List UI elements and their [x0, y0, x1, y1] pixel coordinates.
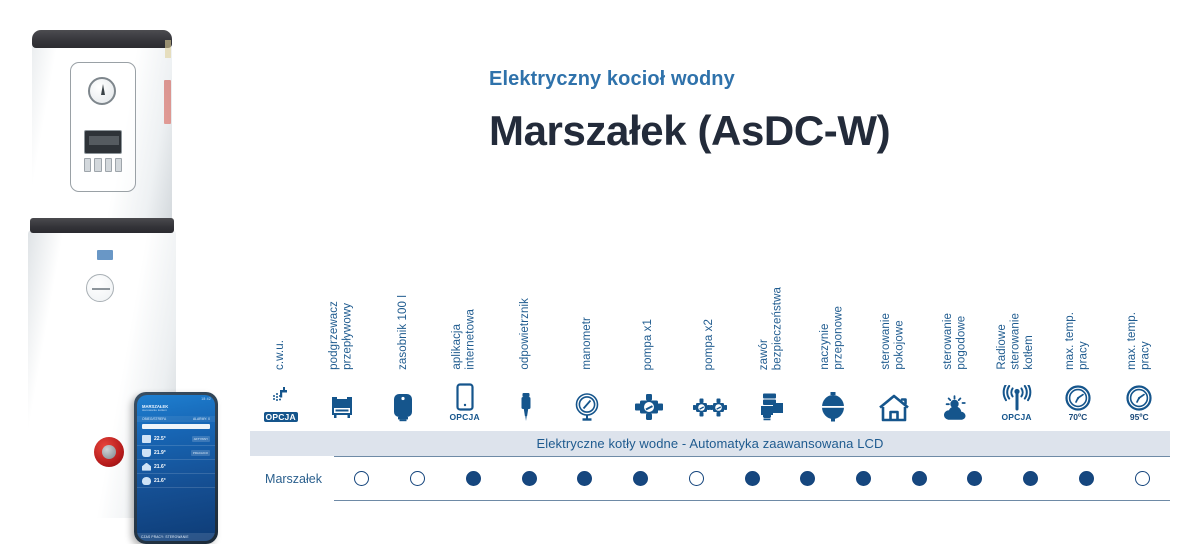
option-badge: OPCJA [264, 412, 298, 422]
feature-dot-cell [501, 471, 557, 486]
shower-icon: OPCJA [264, 370, 298, 422]
phone-progress-bar [142, 424, 210, 429]
feature-column-icon [863, 370, 924, 422]
phone-col-left: OBIEG/STREFA [142, 417, 166, 421]
phone-list-item: 21.6° [137, 460, 215, 474]
feature-column-label: max. temp. pracy [1109, 312, 1170, 370]
feature-available-dot [466, 471, 481, 486]
feature-column-label: pompa x1 [618, 319, 679, 370]
feature-column-label: Radiowe sterowanie kotłem [986, 313, 1047, 370]
feature-label-text: Radiowe sterowanie kotłem [996, 313, 1037, 370]
row-label: Marszałek [250, 472, 334, 486]
feature-column-icon [802, 370, 863, 422]
phone-app-title: MARSZAŁEK sterowanie kotłem [137, 402, 215, 416]
phone-screen: 18:42 MARSZAŁEK sterowanie kotłem OBIEG/… [137, 395, 215, 541]
phone-status-bar: 18:42 [137, 395, 215, 402]
feature-column-label: c.w.u. [250, 340, 311, 370]
feature-dot-cell [1114, 471, 1170, 486]
feature-label-text: aplikacja internetowa [451, 309, 478, 370]
phone-temp-value: 21.6° [154, 464, 166, 470]
expansion-vessel-icon [820, 370, 846, 422]
feature-available-dot [633, 471, 648, 486]
feature-column-icon: 70ºC [1047, 370, 1108, 422]
phone-list-item: 21.6° [137, 474, 215, 488]
category-banner: Elektryczne kotły wodne - Automatyka zaa… [250, 431, 1170, 456]
flow-heater-icon [329, 370, 355, 422]
radio-antenna-icon: OPCJA [1001, 370, 1031, 422]
feature-column-label: sterowanie pogodowe [925, 313, 986, 370]
phone-column-headers: OBIEG/STREFA ALARMY: 0 [137, 416, 215, 422]
phone-list-item: 22.5° AKTYWNY [137, 432, 215, 446]
phone-temp-value: 21.9° [154, 450, 166, 456]
phone-col-right: ALARMY: 0 [193, 417, 210, 421]
feature-available-dot [967, 471, 982, 486]
boiler-side-label [164, 80, 171, 124]
boiler-side-label-top [165, 40, 171, 58]
phone-list-item: 21.9° PRACA/CO [137, 446, 215, 460]
feature-available-dot [745, 471, 760, 486]
feature-label-text: max. temp. pracy [1126, 312, 1153, 370]
feature-dot-cell [1003, 471, 1059, 486]
feature-dot-cell [947, 471, 1003, 486]
feature-column-icon: OPCJA [986, 370, 1047, 422]
feature-label-text: sterowanie pokojowe [880, 313, 907, 370]
phone-app-subtitle: sterowanie kotłem [142, 409, 210, 413]
thermometer-dial-icon: 70ºC [1065, 370, 1091, 422]
category-banner-text: Elektryczne kotły wodne - Automatyka zaa… [536, 436, 883, 451]
boiler-icon [142, 449, 151, 457]
feature-available-dot [912, 471, 927, 486]
feature-column-label: zawór bezpieczeństwa [741, 287, 802, 370]
feature-column-icon [925, 370, 986, 422]
feature-column-icon: OPCJA [434, 370, 495, 422]
feature-dot-cell [445, 471, 501, 486]
feature-column-label: odpowietrznik [495, 298, 556, 370]
phone-status-badge: PRACA/CO [191, 450, 210, 456]
max-temp-value: 70ºC [1069, 412, 1088, 422]
weather-icon [940, 370, 970, 422]
feature-dot-cell [390, 471, 446, 486]
feature-dot-cell [557, 471, 613, 486]
feature-dot-cell [334, 471, 390, 486]
feature-label-text: max. temp. pracy [1064, 312, 1091, 370]
panel-keypad [84, 158, 122, 172]
feature-unavailable-dot [410, 471, 425, 486]
phone-temp-value: 21.6° [154, 478, 166, 484]
safety-valve-icon [757, 370, 785, 422]
storage-tank-icon [392, 370, 414, 422]
phone-temp-value: 22.5° [154, 436, 166, 442]
house-icon [878, 370, 910, 422]
house-icon [142, 463, 151, 471]
brand-logo-badge [97, 250, 113, 260]
feature-label-text: pompa x1 [642, 319, 656, 370]
feature-icons-row: OPCJA OPCJA [250, 370, 1170, 422]
feature-column-icon [557, 370, 618, 422]
feature-dot-cell [668, 471, 724, 486]
feature-column-icon: OPCJA [250, 370, 311, 422]
air-vent-icon [519, 370, 533, 422]
feature-label-text: podgrzewacz przepływowy [328, 301, 355, 370]
feature-available-dot [1023, 471, 1038, 486]
feature-column-icon [618, 370, 679, 422]
max-temp-value: 95ºC [1130, 412, 1149, 422]
product-photo: 18:42 MARSZAŁEK sterowanie kotłem OBIEG/… [18, 22, 233, 522]
feature-label-text: pompa x2 [703, 319, 717, 370]
feature-table: c.w.u.podgrzewacz przepływowyzasobnik 10… [250, 250, 1170, 501]
option-badge: OPCJA [1001, 412, 1031, 422]
weather-icon [142, 477, 151, 485]
table-row: Marszałek [250, 456, 1170, 501]
feature-dot-cell [780, 471, 836, 486]
feature-label-text: naczynie przeponowe [819, 306, 846, 370]
pump-double-icon [693, 370, 727, 422]
phone-mockup: 18:42 MARSZAŁEK sterowanie kotłem OBIEG/… [134, 392, 218, 544]
feature-available-dot [1079, 471, 1094, 486]
feature-column-label: zasobnik 100 l [373, 295, 434, 370]
feature-dot-cell [836, 471, 892, 486]
feature-dot-cell [724, 471, 780, 486]
option-badge: OPCJA [450, 412, 480, 422]
feature-column-label: podgrzewacz przepływowy [311, 301, 372, 370]
feature-label-text: manometr [581, 317, 595, 370]
drain-valve-icon [94, 437, 124, 467]
panel-gauge-icon [88, 77, 116, 105]
pump-single-icon [634, 370, 664, 422]
feature-dot-cell [891, 471, 947, 486]
panel-lcd-display [84, 130, 122, 154]
feature-unavailable-dot [354, 471, 369, 486]
feature-availability-dots [334, 456, 1170, 501]
feature-available-dot [577, 471, 592, 486]
feature-column-label: manometr [557, 317, 618, 370]
feature-column-label: naczynie przeponowe [802, 306, 863, 370]
feature-column-icon [679, 370, 740, 422]
feature-column-label: sterowanie pokojowe [863, 313, 924, 370]
feature-available-dot [856, 471, 871, 486]
feature-column-icon [311, 370, 372, 422]
feature-unavailable-dot [689, 471, 704, 486]
feature-label-text: odpowietrznik [519, 298, 533, 370]
feature-column-icon [495, 370, 556, 422]
heading-block: Elektryczny kocioł wodny Marszałek (AsDC… [489, 68, 1109, 155]
radiator-icon [142, 435, 151, 443]
feature-unavailable-dot [1135, 471, 1150, 486]
page-title: Marszałek (AsDC-W) [489, 107, 1109, 155]
phone-status-badge: AKTYWNY [192, 436, 210, 442]
product-subtitle: Elektryczny kocioł wodny [489, 68, 1109, 91]
phone-footer-text: CZAS PRACY: STEROWANIE [137, 533, 215, 541]
feature-dot-cell [613, 471, 669, 486]
feature-label-text: sterowanie pogodowe [942, 313, 969, 370]
feature-label-text: zawór bezpieczeństwa [758, 287, 785, 370]
feature-column-icon [373, 370, 434, 422]
feature-available-dot [800, 471, 815, 486]
feature-column-icon: 95ºC [1109, 370, 1170, 422]
boiler-top-band [32, 30, 172, 48]
smartphone-icon: OPCJA [450, 370, 480, 422]
feature-dot-cell [1059, 471, 1115, 486]
feature-available-dot [522, 471, 537, 486]
boiler-mid-band [30, 218, 174, 233]
feature-labels-row: c.w.u.podgrzewacz przepływowyzasobnik 10… [250, 250, 1170, 370]
lower-gauge-icon [86, 274, 114, 302]
feature-label-text: zasobnik 100 l [397, 295, 411, 370]
thermometer-dial-icon: 95ºC [1126, 370, 1152, 422]
feature-column-label: aplikacja internetowa [434, 309, 495, 370]
feature-column-label: pompa x2 [679, 319, 740, 370]
feature-label-text: c.w.u. [274, 340, 288, 370]
feature-column-icon [741, 370, 802, 422]
manometer-icon [572, 370, 602, 422]
feature-column-label: max. temp. pracy [1047, 312, 1108, 370]
